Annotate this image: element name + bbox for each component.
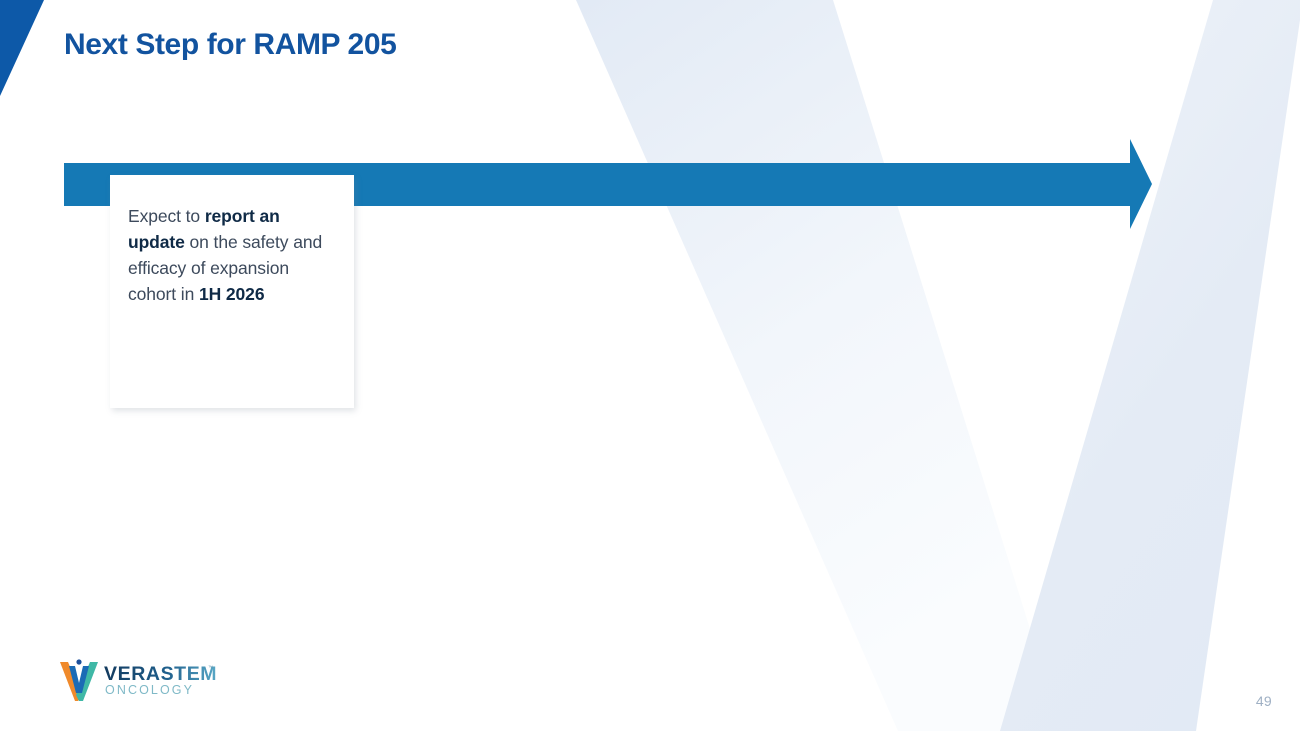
logo-wordmark: VERASTEM [104,663,217,685]
slide-canvas: Next Step for RAMP 205 Expect to report … [0,0,1300,731]
logo-tagline: ONCOLOGY [105,683,194,697]
milestone-card: Expect to report an update on the safety… [110,175,354,408]
page-title: Next Step for RAMP 205 [64,28,396,63]
corner-wedge-accent [0,0,60,110]
page-number: 49 [1256,693,1272,709]
verastem-oncology-logo: VERASTEM ™ ONCOLOGY [58,657,218,701]
milestone-emphasis-date: 1H 2026 [199,284,264,304]
milestone-card-text: Expect to report an update on the safety… [128,203,333,307]
milestone-lead-in: Expect to [128,206,205,226]
logo-mark-icon [60,659,98,701]
logo-trademark-icon: ™ [208,665,213,671]
